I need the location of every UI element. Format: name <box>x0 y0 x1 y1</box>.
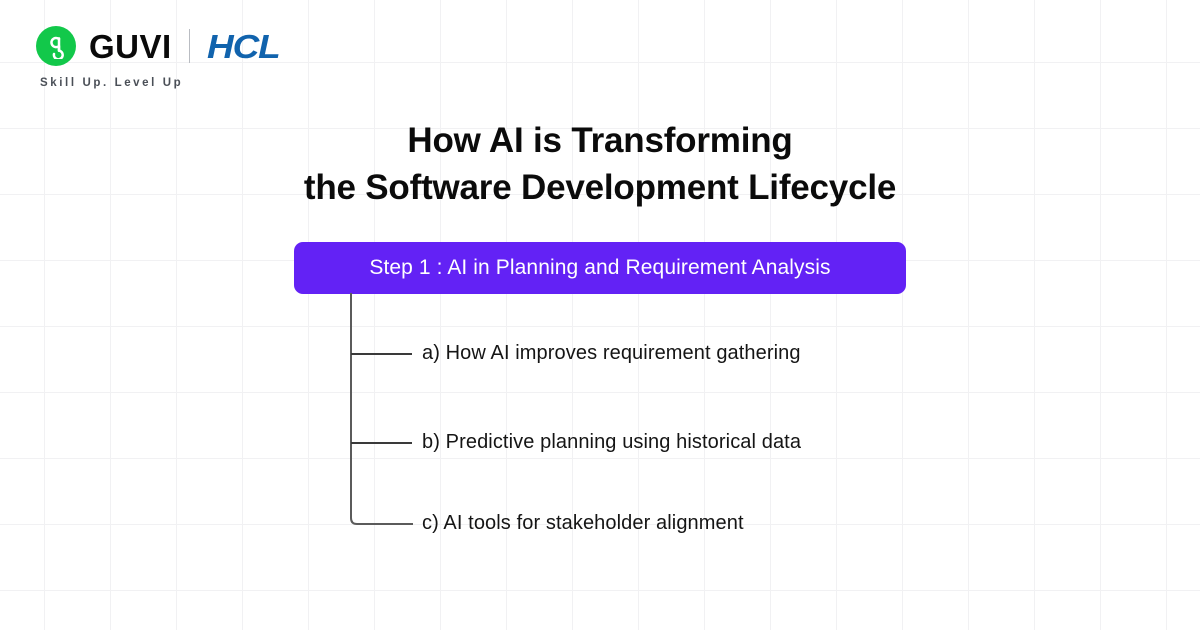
branch-item-c-label: c) AI tools for stakeholder alignment <box>422 512 744 534</box>
guvi-g-mark-icon <box>36 26 76 66</box>
brand-lockup: GUVI HCL Skill Up. Level Up <box>36 26 272 89</box>
page-title-line-1: How AI is Transforming <box>0 117 1200 164</box>
step-banner-label: Step 1 : AI in Planning and Requirement … <box>369 256 830 280</box>
branch-item-c: c) AI tools for stakeholder alignment <box>422 512 744 535</box>
hcl-wordmark: HCL <box>207 30 280 63</box>
brand-tagline: Skill Up. Level Up <box>40 77 183 89</box>
guvi-wordmark: GUVI <box>89 30 172 63</box>
step-banner: Step 1 : AI in Planning and Requirement … <box>294 242 906 294</box>
branch-item-a-label: a) How AI improves requirement gathering <box>422 342 801 364</box>
branch-item-b-label: b) Predictive planning using historical … <box>422 431 801 453</box>
brand-row: GUVI HCL <box>36 26 272 66</box>
branch-item-b: b) Predictive planning using historical … <box>422 431 801 454</box>
slide-canvas: GUVI HCL Skill Up. Level Up How AI is Tr… <box>0 0 1200 630</box>
branch-item-a: a) How AI improves requirement gathering <box>422 342 801 365</box>
brand-divider <box>189 29 190 63</box>
page-title-line-2: the Software Development Lifecycle <box>0 164 1200 211</box>
page-title: How AI is Transforming the Software Deve… <box>0 117 1200 211</box>
branch-connector-lines <box>0 0 1200 630</box>
